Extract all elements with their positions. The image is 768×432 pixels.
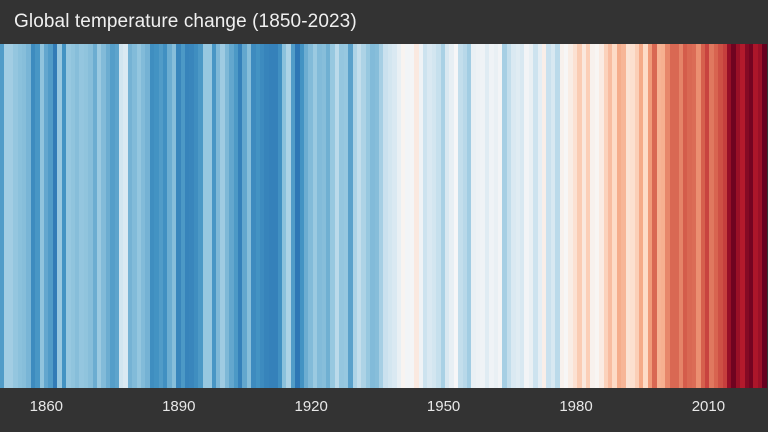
temperature-stripe — [762, 44, 766, 388]
x-axis: 186018901920195019802010 — [0, 388, 768, 432]
x-axis-tick-label: 1950 — [427, 398, 460, 415]
stripes-plot-area — [0, 44, 768, 388]
x-axis-tick-label: 1890 — [162, 398, 195, 415]
page-title: Global temperature change (1850-2023) — [14, 9, 357, 35]
warming-stripes-figure: Global temperature change (1850-2023) 18… — [0, 0, 768, 432]
x-axis-tick-label: 1920 — [294, 398, 327, 415]
x-axis-tick-label: 2010 — [692, 398, 725, 415]
x-axis-tick-label: 1980 — [559, 398, 592, 415]
x-axis-tick-label: 1860 — [30, 398, 63, 415]
